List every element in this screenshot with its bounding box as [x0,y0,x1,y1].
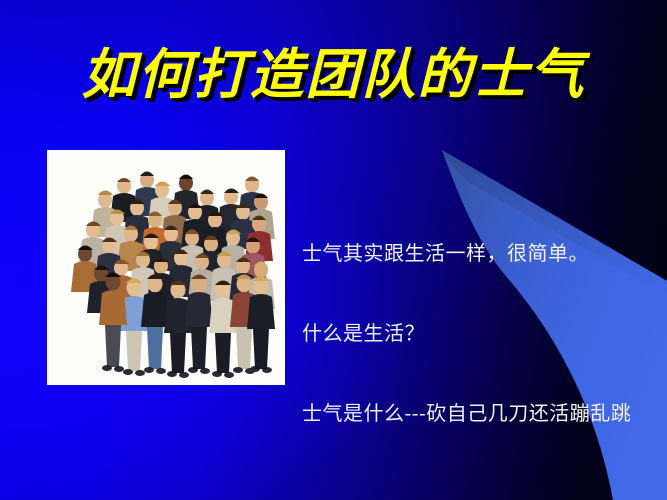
body-line-1: 士气其实跟生活一样，很简单。 [302,240,662,266]
body-line-3: 士气是什么---砍自己几刀还活蹦乱跳 [302,400,662,426]
slide-body-text: 士气其实跟生活一样，很简单。 什么是生活？ 士气是什么---砍自己几刀还活蹦乱跳 [302,240,662,426]
group-photo-illustration [47,150,285,385]
slide-title: 如何打造团队的士气 [0,44,667,104]
body-line-2: 什么是生活？ [302,320,662,346]
group-of-people-photo [47,150,285,385]
presentation-slide: 如何打造团队的士气 [0,0,667,500]
